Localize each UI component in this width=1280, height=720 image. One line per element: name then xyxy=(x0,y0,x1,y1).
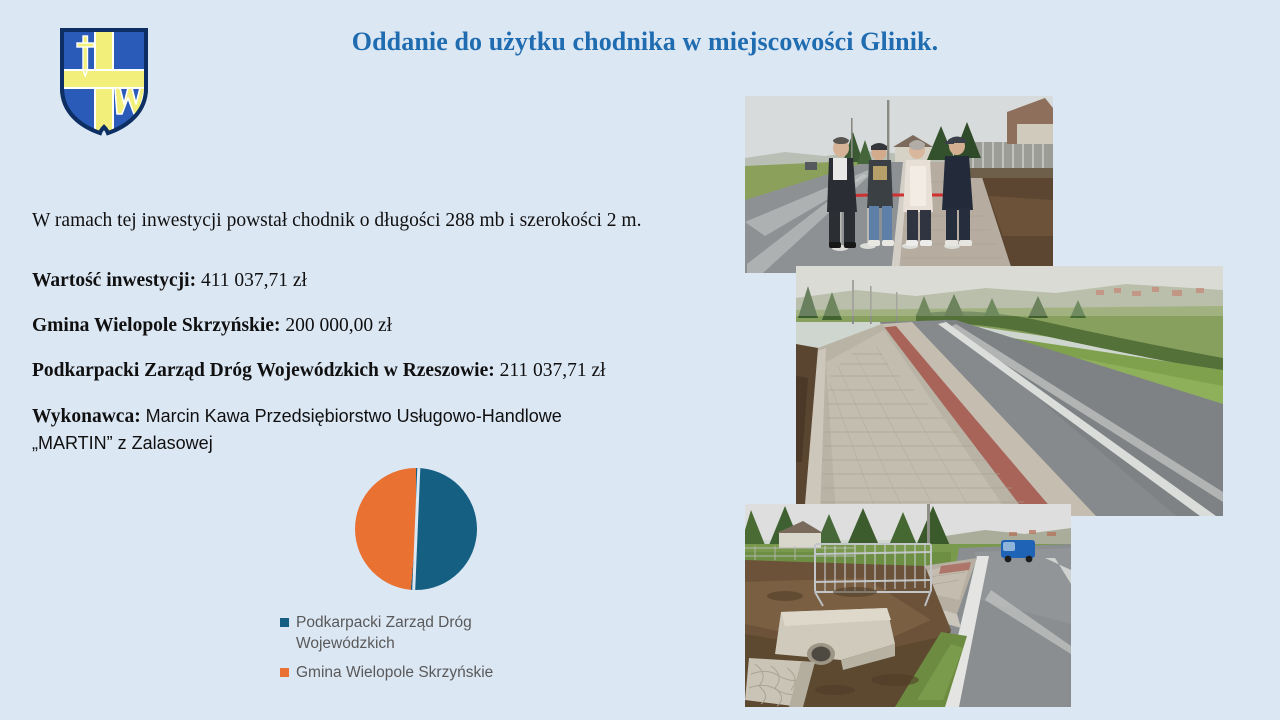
fact-row-pzdw-share: Podkarpacki Zarząd Dróg Wojewódzkich w R… xyxy=(32,358,732,384)
legend-marker-icon xyxy=(280,668,289,677)
fact-value-line2: „MARTIN” z Zalasowej xyxy=(32,433,213,453)
fact-row-investment-value: Wartość inwestycji: 411 037,71 zł xyxy=(32,268,732,294)
chart-legend: Podkarpacki Zarząd Dróg Wojewódzkich Gmi… xyxy=(280,612,580,691)
fact-label: Podkarpacki Zarząd Dróg Wojewódzkich w R… xyxy=(32,360,495,381)
pie-graphic xyxy=(355,468,477,590)
photo-ribbon-cutting xyxy=(745,96,1053,273)
funding-pie-chart: Podkarpacki Zarząd Dróg Wojewódzkich Gmi… xyxy=(280,468,580,703)
fact-value: 411 037,71 zł xyxy=(201,270,307,291)
page-title: Oddanie do użytku chodnika w miejscowośc… xyxy=(180,26,1110,58)
pie-slice-divider xyxy=(412,468,420,590)
fact-value-line1: Marcin Kawa Przedsiębiorstwo Usługowo-Ha… xyxy=(146,406,562,426)
legend-label-line2: Wojewódzkich xyxy=(296,633,472,654)
photo-new-walkway xyxy=(796,266,1223,516)
legend-item-gmina: Gmina Wielopole Skrzyńskie xyxy=(280,662,580,683)
fact-row-contractor: Wykonawca: Marcin Kawa Przedsiębiorstwo … xyxy=(32,403,732,457)
legend-item-label: Gmina Wielopole Skrzyńskie xyxy=(296,662,493,683)
fact-row-gmina-share: Gmina Wielopole Skrzyńskie: 200 000,00 z… xyxy=(32,313,732,339)
legend-label-line1: Podkarpacki Zarząd Dróg xyxy=(296,612,472,633)
fact-label: Gmina Wielopole Skrzyńskie: xyxy=(32,315,280,336)
body-text-block: W ramach tej inwestycji powstał chodnik … xyxy=(32,208,732,457)
fact-value: 200 000,00 zł xyxy=(285,315,392,336)
fact-label: Wartość inwestycji: xyxy=(32,270,196,291)
coat-of-arms-icon xyxy=(58,26,150,138)
pie-slices xyxy=(355,468,477,590)
lead-paragraph: W ramach tej inwestycji powstał chodnik … xyxy=(32,208,732,234)
fact-value: 211 037,71 zł xyxy=(500,360,606,381)
legend-item-label: Podkarpacki Zarząd Dróg Wojewódzkich xyxy=(296,612,472,654)
legend-marker-icon xyxy=(280,618,289,627)
fact-label: Wykonawca: xyxy=(32,406,141,427)
legend-label-line1: Gmina Wielopole Skrzyńskie xyxy=(296,662,493,683)
legend-item-pzdw: Podkarpacki Zarząd Dróg Wojewódzkich xyxy=(280,612,580,654)
photo-culvert-and-railing xyxy=(745,504,1071,707)
presentation-slide: Oddanie do użytku chodnika w miejscowośc… xyxy=(0,0,1280,720)
